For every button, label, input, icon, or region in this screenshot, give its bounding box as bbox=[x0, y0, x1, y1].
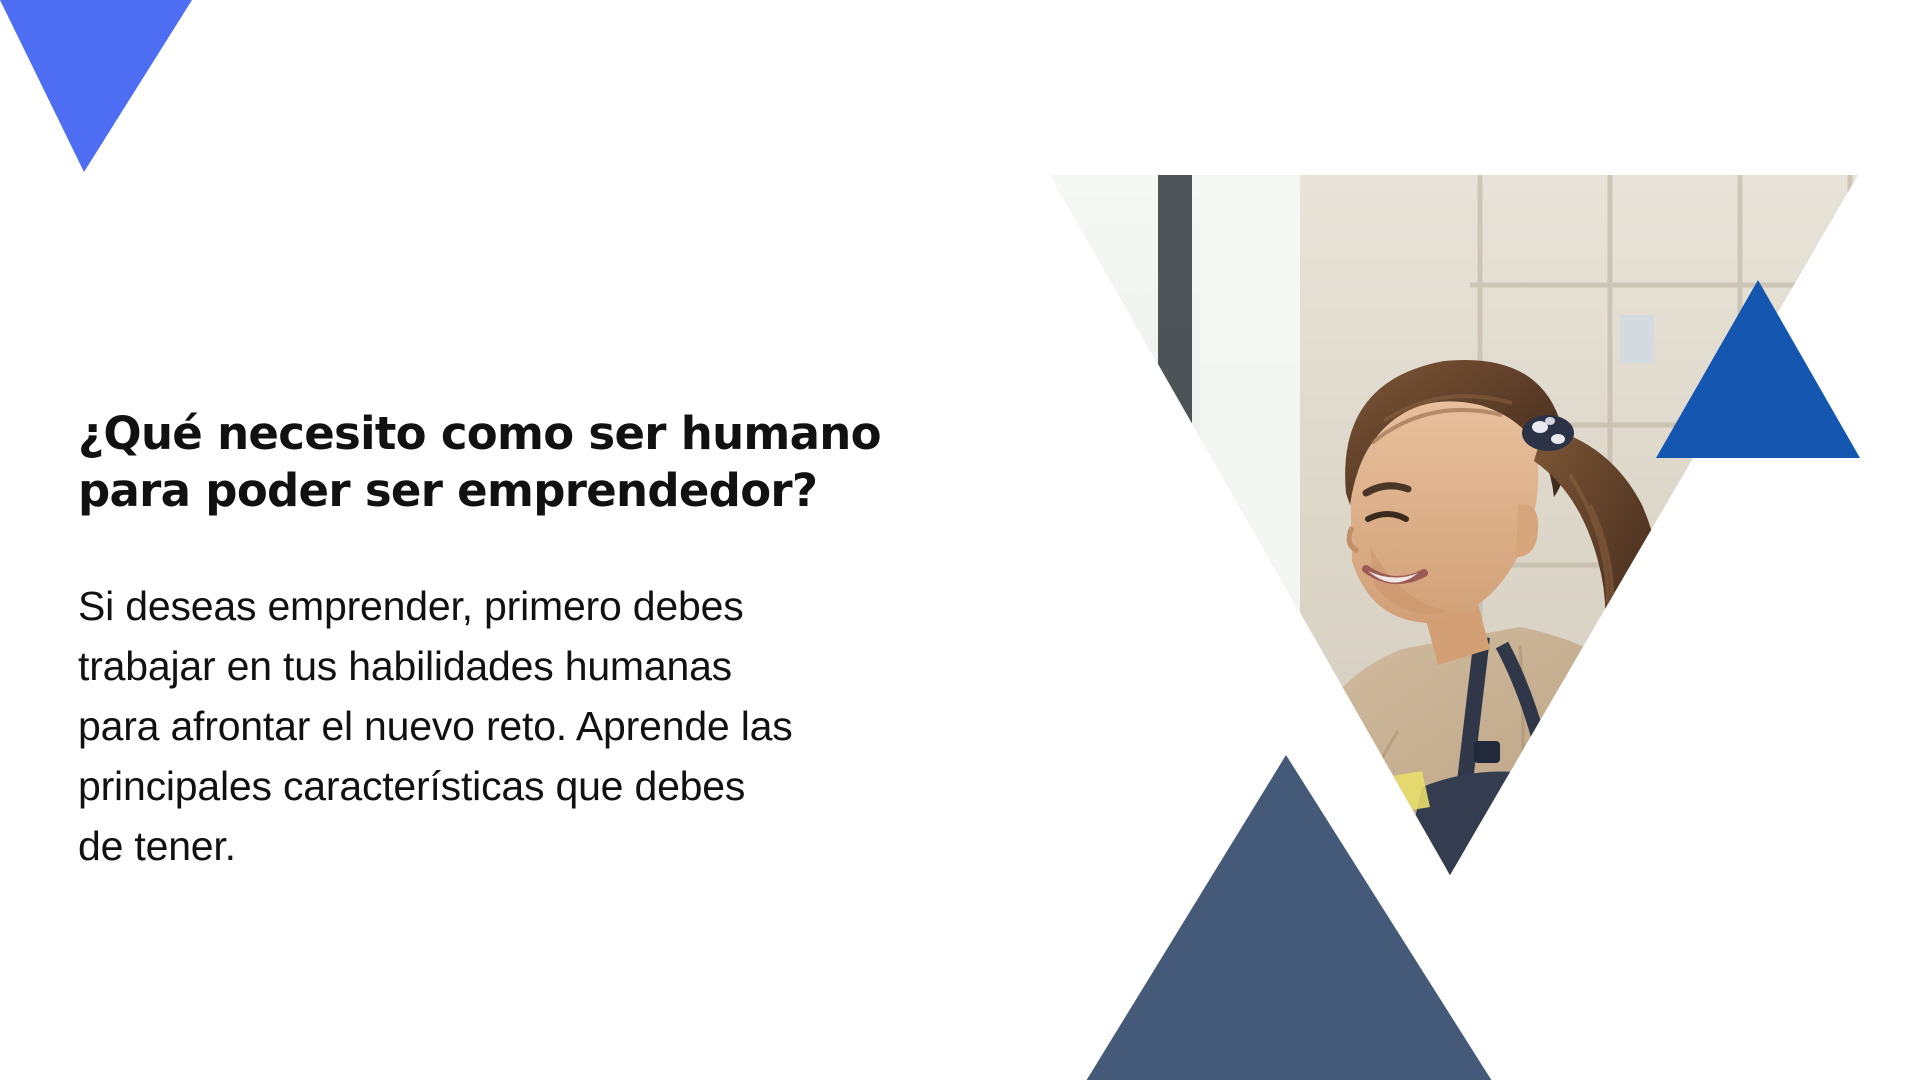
triangle-up-slate-icon bbox=[1086, 755, 1492, 1080]
body-paragraph: Si deseas emprender, primero debes traba… bbox=[78, 577, 1078, 876]
svg-text:B: B bbox=[1682, 696, 1698, 720]
text-block: ¿Qué necesito como ser humano para poder… bbox=[78, 405, 1088, 877]
svg-text:B: B bbox=[1647, 811, 1665, 839]
page-title: ¿Qué necesito como ser humano para poder… bbox=[78, 405, 908, 519]
slide-canvas: B B ¿Qué necesito como ser humano para p… bbox=[0, 0, 1920, 1080]
triangle-down-royal-blue-icon bbox=[0, 0, 192, 172]
triangle-up-dark-blue-icon bbox=[1656, 280, 1860, 458]
